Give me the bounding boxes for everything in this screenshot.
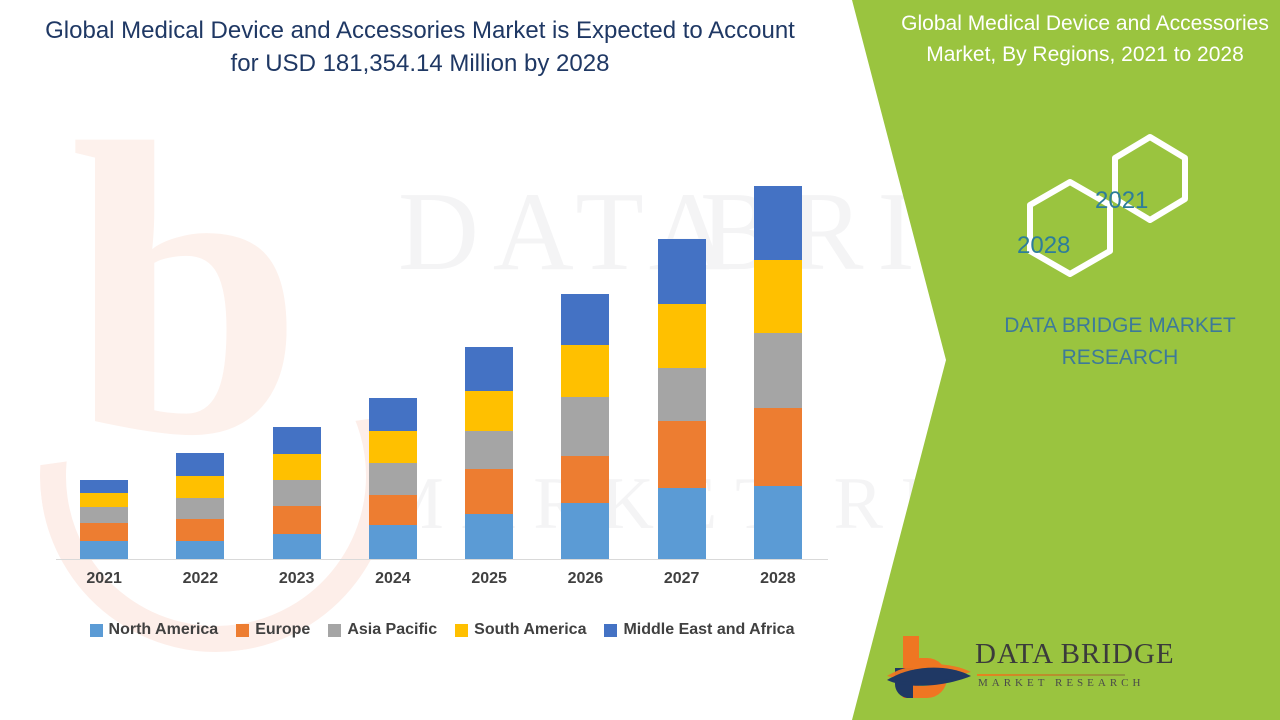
right-panel-title: Global Medical Device and Accessories Ma… xyxy=(900,8,1270,70)
hexagon-2021-label: 2021 xyxy=(1095,187,1148,215)
slide-canvas: b DATA BRIDGE MARKET RESEARCH Global Med… xyxy=(0,0,1280,720)
logo-title: DATA BRIDGE xyxy=(975,638,1175,671)
logo-subtitle: MARKET RESEARCH xyxy=(978,677,1144,689)
hexagon-group: 2021 2028 xyxy=(975,125,1205,290)
logo-mark-icon xyxy=(885,632,973,700)
data-bridge-logo: DATA BRIDGE MARKET RESEARCH xyxy=(885,632,1135,704)
logo-divider xyxy=(977,674,1125,676)
hexagon-2028-label: 2028 xyxy=(1017,232,1070,260)
brand-name-text: DATA BRIDGE MARKET RESEARCH xyxy=(970,310,1270,374)
